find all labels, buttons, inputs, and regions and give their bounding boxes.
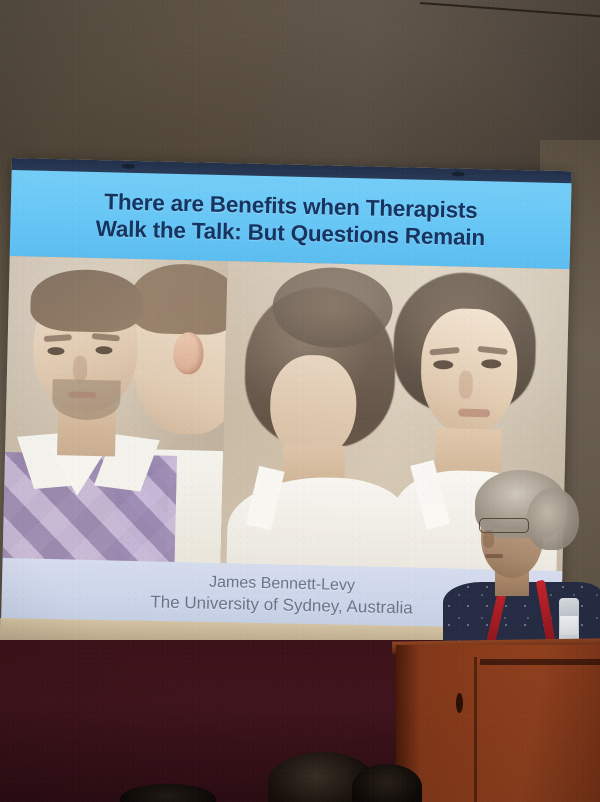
bezel-mark [122,164,135,169]
presenter-affiliation: The University of Sydney, Australia [150,592,413,621]
speaker-hair-back [527,488,579,550]
upper-wall [0,0,600,170]
slide-title-bar: There are Benefits when Therapists Walk … [10,170,572,269]
seated-speaker [455,470,600,650]
lectern-knob [456,693,463,713]
lectern-groove [480,659,600,665]
water-bottle-label [560,616,578,635]
audience-head [352,764,422,802]
projection-haze-left [2,256,227,571]
bezel-mark [452,171,465,176]
ceiling-edge-line [420,2,600,19]
lectern-seam [474,657,477,802]
lectern [396,645,600,802]
conference-photo: There are Benefits when Therapists Walk … [0,0,600,802]
speaker-nose [483,530,494,548]
speaker-mouth [485,554,503,558]
slide-photo-two-men [2,256,227,571]
